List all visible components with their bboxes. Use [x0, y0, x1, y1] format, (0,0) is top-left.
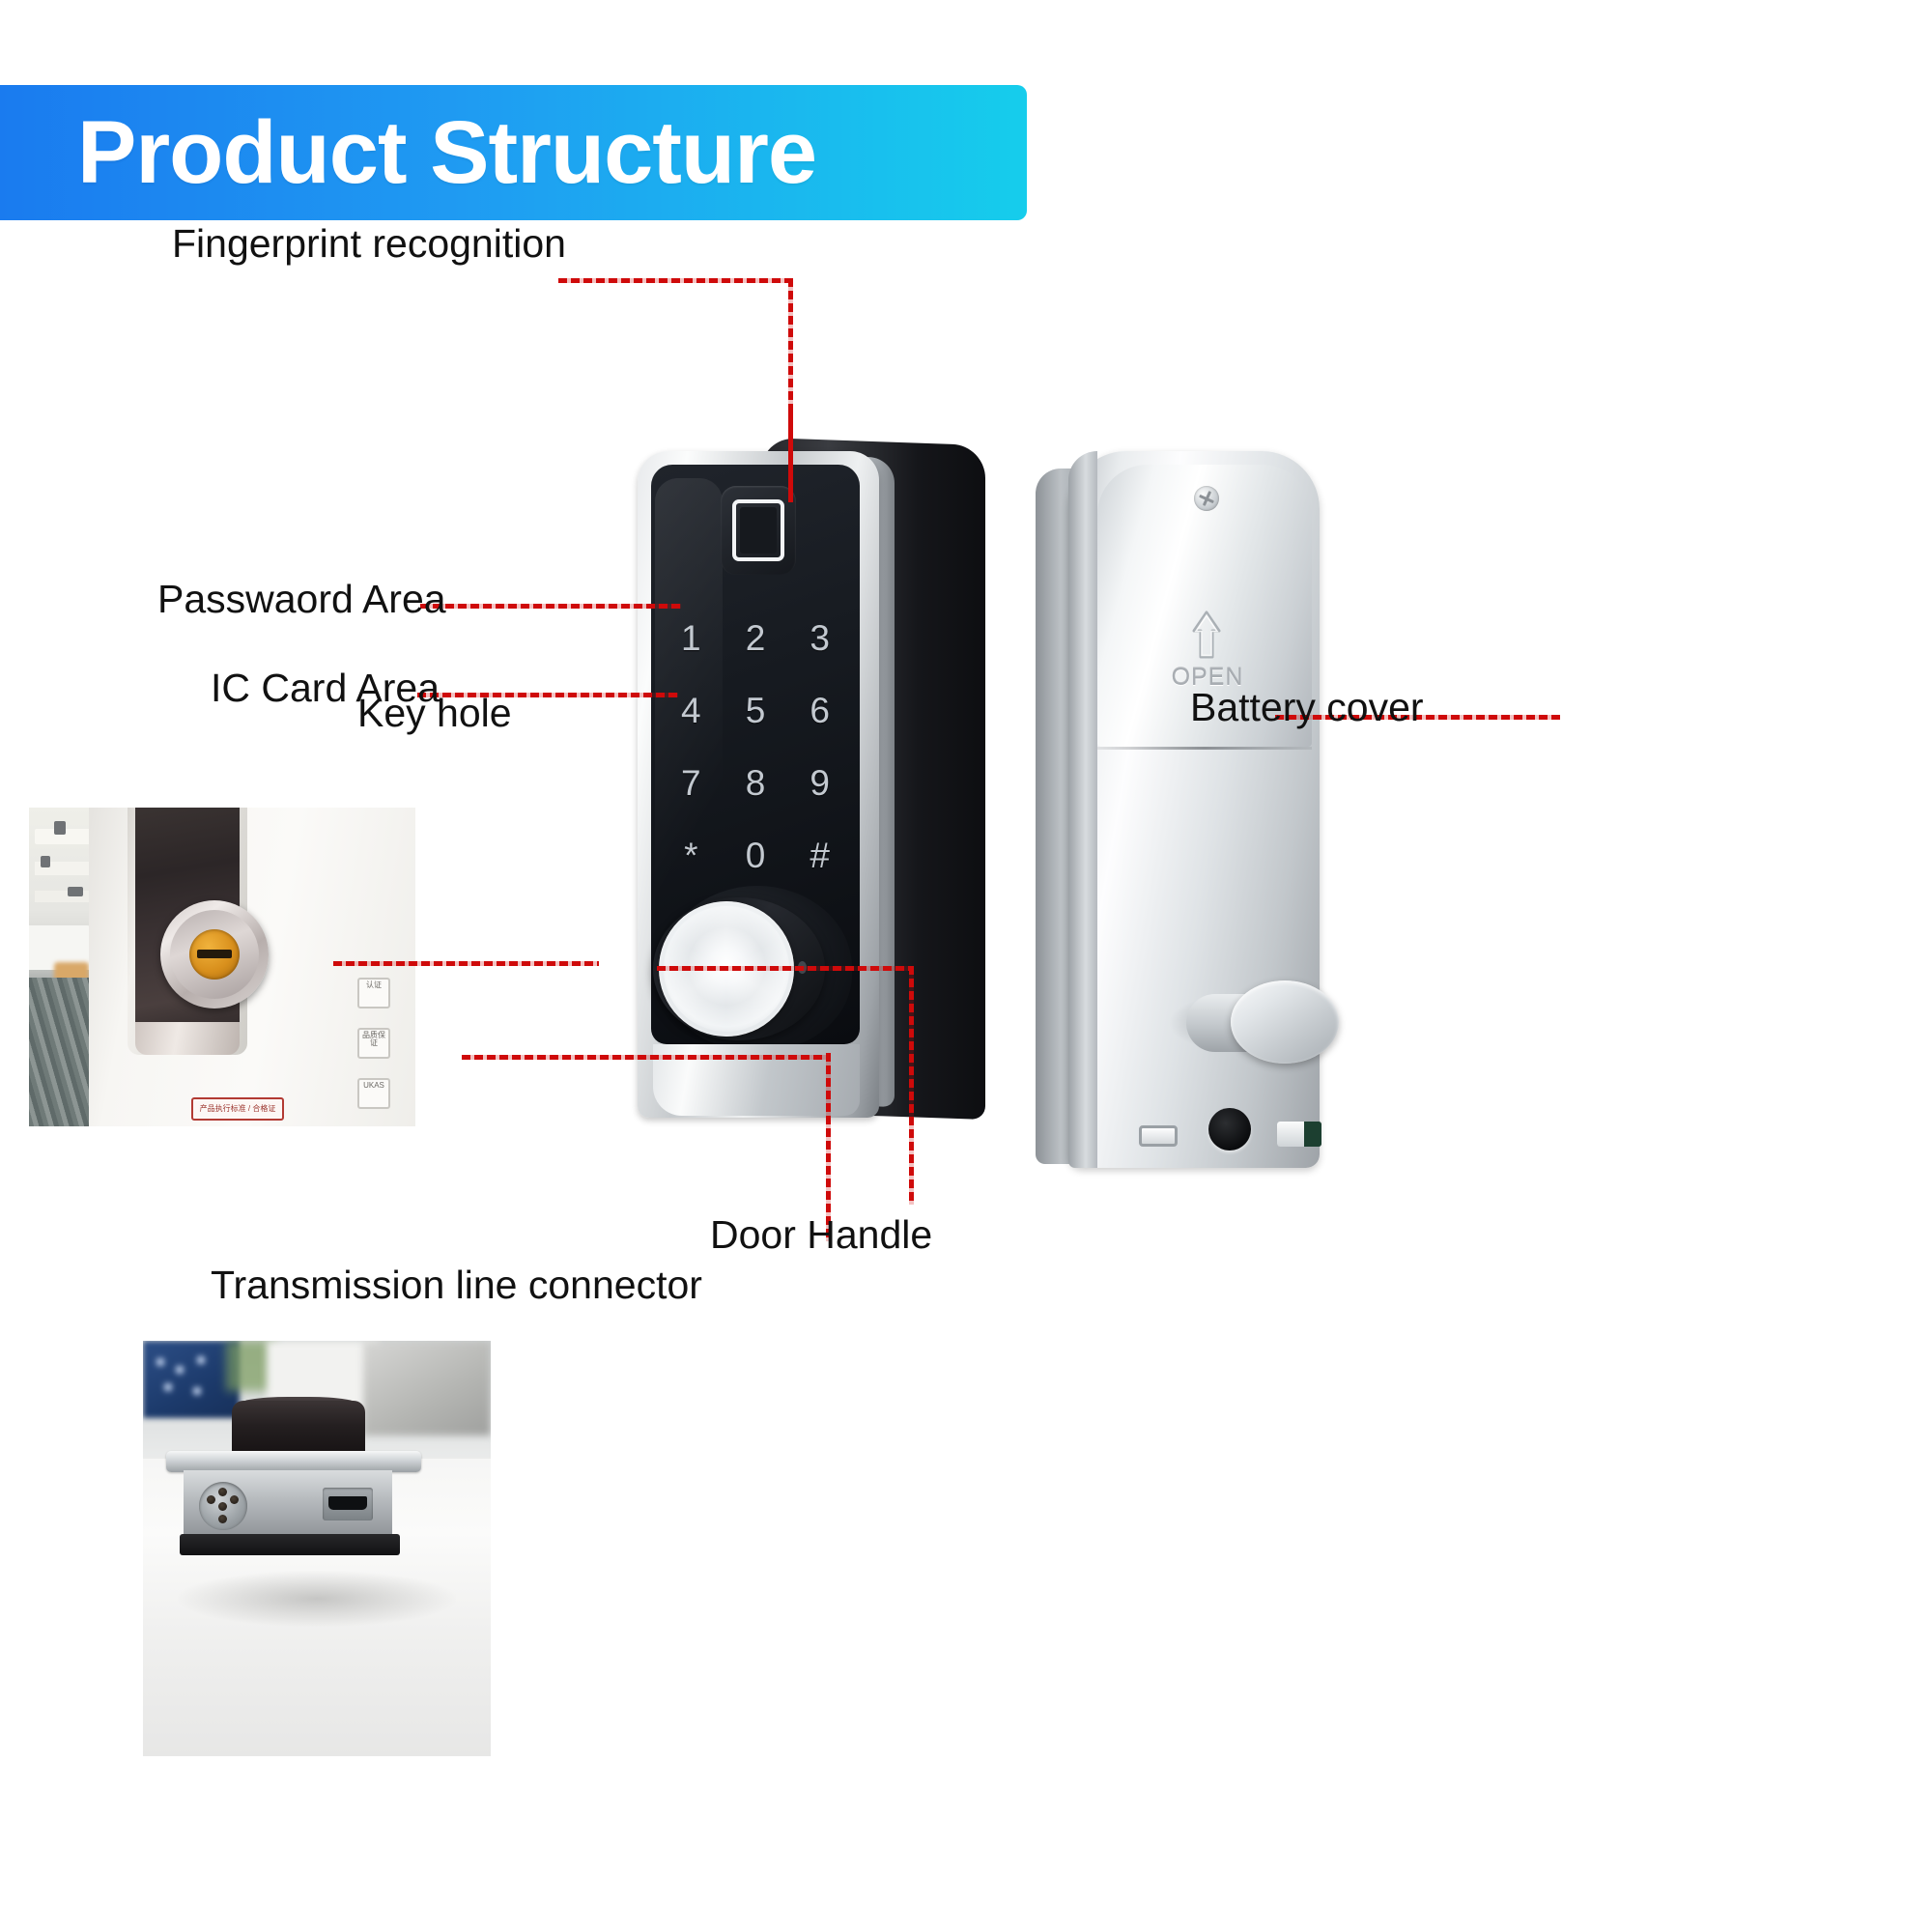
connector-photo-knob: [232, 1401, 365, 1457]
keyhole-photo-object: [41, 856, 50, 867]
back-plate-device: OPEN: [1024, 440, 1352, 1203]
thumb-turn-knob[interactable]: [1231, 980, 1339, 1064]
connector-photo: [143, 1341, 491, 1756]
cert-label-2: 品质保证: [357, 1028, 390, 1059]
key-7[interactable]: 7: [659, 747, 724, 819]
keyhole-photo-red-label-text: 产品执行标准 / 合格证: [193, 1099, 282, 1119]
connector-photo-usb-port: [323, 1488, 373, 1520]
header-banner: Product Structure: [0, 85, 1027, 220]
connector-photo-face-plate: [166, 1451, 421, 1472]
leader-key-hole: [333, 961, 599, 966]
front-lock-device: 1 2 3 4 5 6 7 8 9 * 0 #: [638, 440, 990, 1203]
key-2[interactable]: 2: [724, 602, 788, 674]
indicator-slot-left: [1139, 1125, 1178, 1147]
connector-photo-base: [180, 1534, 400, 1555]
cert-label-1: 认证: [357, 978, 390, 1009]
key-3[interactable]: 3: [787, 602, 852, 674]
leader-door-handle-h: [657, 966, 913, 971]
indicator-slot-right: [1277, 1122, 1321, 1147]
cert-label-3: UKAS: [357, 1078, 390, 1109]
label-fingerprint-recognition: Fingerprint recognition: [172, 224, 566, 264]
key-0[interactable]: 0: [724, 819, 788, 892]
connector-photo-shadow: [178, 1571, 456, 1627]
page-title: Product Structure: [77, 108, 816, 197]
leader-password: [420, 604, 681, 609]
fingerprint-sensor-ring: [732, 499, 784, 561]
connector-photo-circular-port: [199, 1482, 247, 1530]
keyhole-photo-object: [54, 821, 66, 835]
fingerprint-sensor-window: [740, 507, 777, 554]
key-4[interactable]: 4: [659, 674, 724, 747]
key-9[interactable]: 9: [787, 747, 852, 819]
keyhole-photo-object: [68, 887, 83, 896]
connector-photo-blue-object: [143, 1341, 240, 1418]
label-key-hole: Key hole: [357, 694, 512, 733]
leader-transmission-h: [462, 1055, 829, 1060]
product-structure-diagram: Product Structure 1 2 3 4 5 6 7 8 9 * 0 …: [0, 0, 1932, 1932]
keyhole-photo-red-label: 产品执行标准 / 合格证: [191, 1097, 284, 1121]
key-8[interactable]: 8: [724, 747, 788, 819]
screw-icon: [1194, 486, 1219, 511]
label-door-handle: Door Handle: [710, 1215, 932, 1255]
key-5[interactable]: 5: [724, 674, 788, 747]
keypad-digits[interactable]: 1 2 3 4 5 6 7 8 9 * 0 #: [659, 602, 852, 892]
battery-cover-seam: [1097, 747, 1312, 750]
leader-door-handle-v: [909, 966, 914, 1205]
keyhole-photo-key-slot: [197, 950, 232, 958]
keyhole-photo: 认证 品质保证 UKAS 产品执行标准 / 合格证: [29, 808, 415, 1126]
key-6[interactable]: 6: [787, 674, 852, 747]
back-plate-rim: [1068, 451, 1097, 1168]
key-star[interactable]: *: [659, 819, 724, 892]
leader-fingerprint-v2: [788, 406, 793, 502]
label-battery-cover: Battery cover: [1190, 688, 1424, 727]
up-arrow-icon: [1189, 610, 1224, 660]
leader-fingerprint-h: [558, 278, 793, 283]
key-hash[interactable]: #: [787, 819, 852, 892]
connector-photo-grey-object: [363, 1341, 491, 1435]
reset-hole[interactable]: [1208, 1108, 1251, 1151]
key-1[interactable]: 1: [659, 602, 724, 674]
label-password-area: Passwaord Area: [157, 580, 446, 619]
label-transmission-line-connector: Transmission line connector: [211, 1265, 702, 1305]
keyhole-photo-lock-chin: [135, 1022, 240, 1055]
fingerprint-sensor-icon[interactable]: [721, 486, 796, 575]
